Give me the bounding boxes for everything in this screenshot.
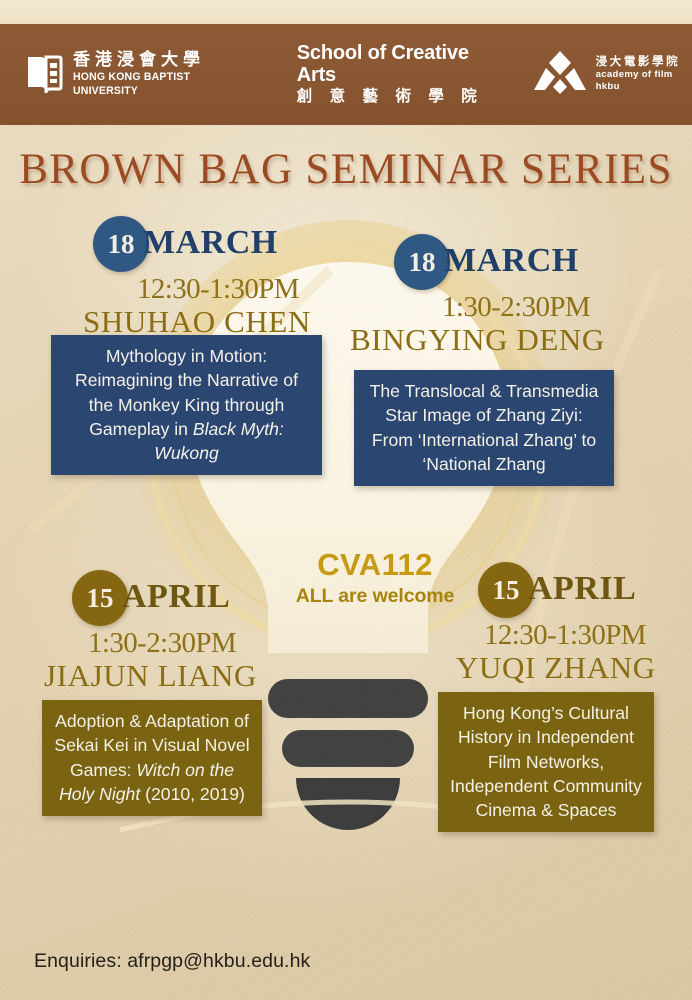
seminar-3-time: 1:30-2:30PM [88, 628, 312, 658]
seminar-1-time: 12:30-1:30PM [137, 274, 333, 304]
seminar-4-abstract: Hong Kong’s Cultural History in Independ… [438, 692, 654, 832]
open-book-logo-icon [26, 52, 63, 96]
brand-header-bar: 香港浸會大學 HONG KONG BAPTIST UNIVERSITY Scho… [0, 24, 692, 125]
seminar-3-abstract: Adoption & Adaptation of Sekai Kei in Vi… [42, 700, 262, 816]
academy-of-film-a-logo-icon [533, 49, 587, 100]
seminar-2-abstract: The Translocal & Transmedia Star Image o… [354, 370, 614, 486]
seminar-1-dateline: 18 MARCH [83, 216, 333, 272]
seminar-2-dateline: 18 MARCH [384, 234, 634, 290]
seminar-3-day-badge: 15 [72, 570, 128, 626]
seminar-1-abstract: Mythology in Motion: Reimagining the Nar… [51, 335, 322, 475]
seminar-2-day-badge: 18 [394, 234, 450, 290]
enquiries-line: Enquiries: afrpgp@hkbu.edu.hk [34, 950, 310, 973]
seminar-2-speaker: BINGYING DENG [350, 323, 634, 358]
seminar-3-dateline: 15 APRIL [62, 570, 312, 626]
seminar-4-day-badge: 15 [478, 562, 534, 618]
seminar-2-heading: 18 MARCH 1:30-2:30PM BINGYING DENG [384, 234, 634, 358]
seminar-3-speaker: JIAJUN LIANG [44, 659, 312, 694]
school-chinese-name: 創 意 藝 術 學 院 [297, 86, 503, 107]
hkbu-english-name: HONG KONG BAPTIST UNIVERSITY [73, 70, 248, 98]
seminar-1-month: MARCH [143, 224, 278, 262]
seminar-4-dateline: 15 APRIL [468, 562, 692, 618]
academy-of-film-logo: 浸大電影學院 academy of film hkbu [533, 49, 692, 100]
seminar-4-time: 12:30-1:30PM [484, 620, 692, 650]
seminar-4-speaker: YUQI ZHANG [456, 651, 692, 686]
poster-title: BROWN BAG SEMINAR SERIES [0, 145, 692, 194]
seminar-3-month: APRIL [122, 578, 230, 616]
seminar-1-day-badge: 18 [93, 216, 149, 272]
seminar-4-heading: 15 APRIL 12:30-1:30PM YUQI ZHANG [468, 562, 692, 686]
school-of-creative-arts-logo: School of Creative Arts 創 意 藝 術 學 院 [297, 42, 503, 107]
seminar-1-heading: 18 MARCH 12:30-1:30PM SHUHAO CHEN [83, 216, 333, 340]
poster-canvas: 香港浸會大學 HONG KONG BAPTIST UNIVERSITY Scho… [0, 0, 692, 1000]
hkbu-logo: 香港浸會大學 HONG KONG BAPTIST UNIVERSITY [26, 51, 259, 99]
seminar-3-heading: 15 APRIL 1:30-2:30PM JIAJUN LIANG [62, 570, 312, 694]
academy-english-name: academy of film hkbu [596, 69, 692, 94]
hkbu-chinese-name: 香港浸會大學 [73, 51, 259, 71]
top-cream-strip [0, 0, 692, 24]
school-english-name: School of Creative Arts [297, 42, 503, 86]
seminar-4-month: APRIL [528, 570, 636, 608]
seminar-2-time: 1:30-2:30PM [442, 292, 634, 322]
academy-chinese-name: 浸大電影學院 [596, 55, 692, 69]
seminar-2-month: MARCH [444, 242, 579, 280]
